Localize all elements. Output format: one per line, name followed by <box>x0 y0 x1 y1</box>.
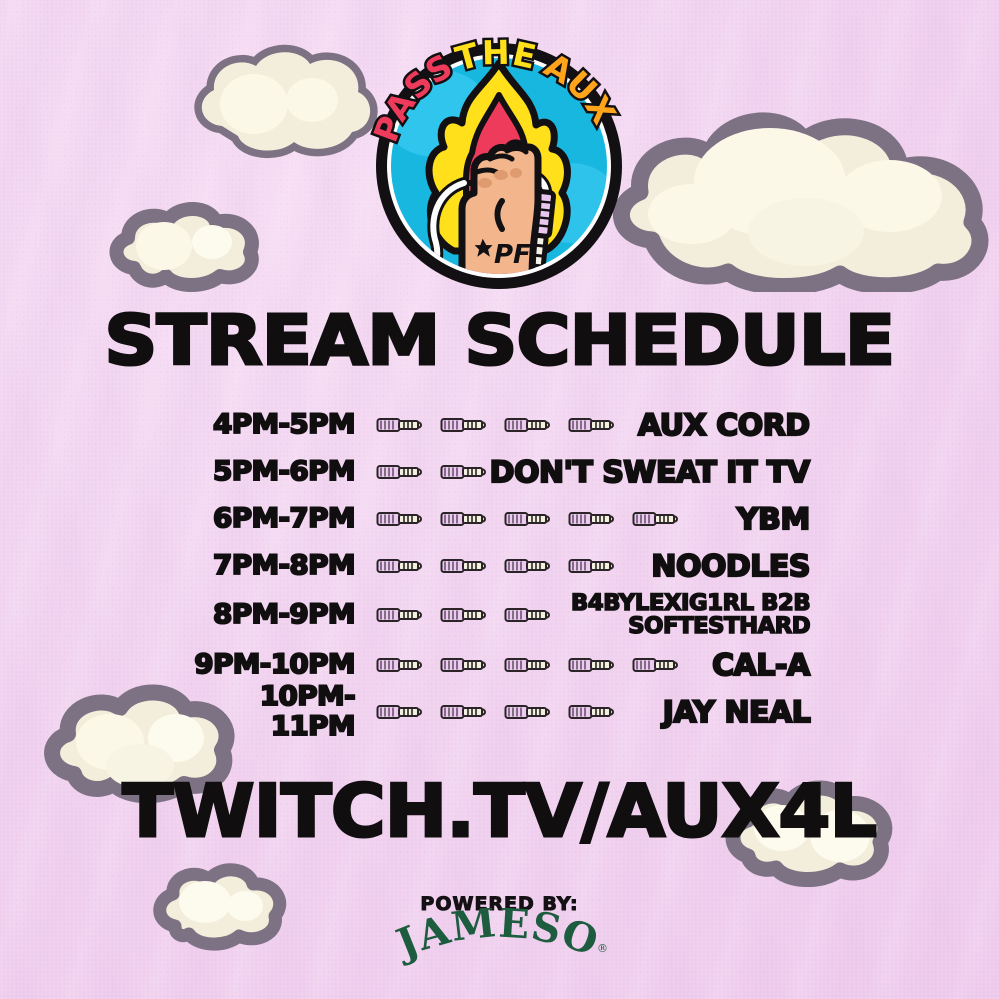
aux-cord-meter <box>355 462 499 482</box>
aux-plug-icon <box>440 509 488 529</box>
pass-the-aux-logo: PF PASS THE AUX <box>366 33 632 296</box>
schedule-time: 7PM-8PM <box>185 551 355 581</box>
schedule-artist: YBM <box>737 505 810 534</box>
aux-plug-icon <box>376 655 424 675</box>
aux-plug-icon <box>568 415 616 435</box>
cloud-icon <box>600 92 999 292</box>
aux-plug-icon <box>376 509 424 529</box>
aux-plug-icon <box>568 702 616 722</box>
schedule-artist: JAY NEAL <box>662 698 810 727</box>
schedule-time: 5PM-6PM <box>185 457 355 487</box>
registered-mark: ® <box>597 942 608 955</box>
schedule-artist: B4BYLEXIG1RL B2B SOFTESTHARD <box>571 592 810 638</box>
aux-plug-icon <box>376 462 424 482</box>
page-title: STREAM SCHEDULE <box>0 303 999 379</box>
aux-plug-icon <box>568 556 616 576</box>
aux-plug-icon <box>440 556 488 576</box>
aux-cord-meter <box>355 655 715 675</box>
aux-plug-icon <box>504 556 552 576</box>
aux-plug-icon <box>504 415 552 435</box>
cloud-icon <box>98 196 268 296</box>
jameson-wordmark: JAMESON <box>390 908 605 968</box>
aux-plug-icon <box>376 605 424 625</box>
schedule-row: 8PM-9PMB4BYLEXIG1RL B2B SOFTESTHARD <box>190 595 810 635</box>
aux-plug-icon <box>440 462 488 482</box>
aux-plug-icon <box>568 655 616 675</box>
aux-plug-icon <box>504 605 552 625</box>
schedule-time: 4PM-5PM <box>185 410 355 440</box>
aux-plug-icon <box>632 509 680 529</box>
schedule-row: 7PM-8PMNOODLES <box>190 546 810 586</box>
aux-plug-icon <box>376 415 424 435</box>
aux-plug-icon <box>440 655 488 675</box>
twitch-url[interactable]: TWITCH.TV/AUX4L <box>0 772 999 850</box>
schedule-time: 10PM-11PM <box>185 682 355 742</box>
logo-wrist-mark: PF <box>494 240 531 270</box>
schedule-artist: AUX CORD <box>638 411 810 440</box>
schedule-artist: CAL-A <box>712 651 810 680</box>
schedule-artist: DON'T SWEAT IT TV <box>490 458 810 487</box>
aux-plug-icon <box>440 702 488 722</box>
aux-plug-icon <box>440 605 488 625</box>
aux-plug-icon <box>376 702 424 722</box>
aux-cord-meter <box>355 605 578 625</box>
aux-cord-meter <box>355 556 656 576</box>
aux-cord-meter <box>355 702 667 722</box>
schedule-time: 8PM-9PM <box>185 600 355 630</box>
aux-plug-icon <box>504 655 552 675</box>
schedule-row: 10PM-11PMJAY NEAL <box>190 692 810 732</box>
poster-canvas: PF PASS THE AUX STREAM SCHEDULE 4PM-5PMA… <box>0 0 999 999</box>
schedule-row: 9PM-10PMCAL-A <box>190 645 810 685</box>
schedule-artist: NOODLES <box>651 552 810 581</box>
schedule-row: 5PM-6PMDON'T SWEAT IT TV <box>190 452 810 492</box>
logo-arc-text-the: THE <box>451 33 540 79</box>
aux-plug-icon <box>376 556 424 576</box>
schedule-row: 4PM-5PMAUX CORD <box>190 405 810 445</box>
schedule-time: 9PM-10PM <box>185 650 355 680</box>
aux-plug-icon <box>632 655 680 675</box>
schedule-list: 4PM-5PMAUX CORD5PM-6PMDON'T SWEAT IT TV6… <box>190 405 810 730</box>
schedule-row: 6PM-7PMYBM <box>190 499 810 539</box>
aux-cord-meter <box>355 415 643 435</box>
aux-plug-icon <box>440 415 488 435</box>
jameson-sponsor-logo: JAMESON ® <box>0 908 999 978</box>
cloud-icon <box>182 38 382 168</box>
aux-plug-icon <box>568 509 616 529</box>
aux-cord-meter <box>355 509 739 529</box>
aux-plug-icon <box>504 509 552 529</box>
aux-plug-icon <box>504 702 552 722</box>
schedule-time: 6PM-7PM <box>185 504 355 534</box>
